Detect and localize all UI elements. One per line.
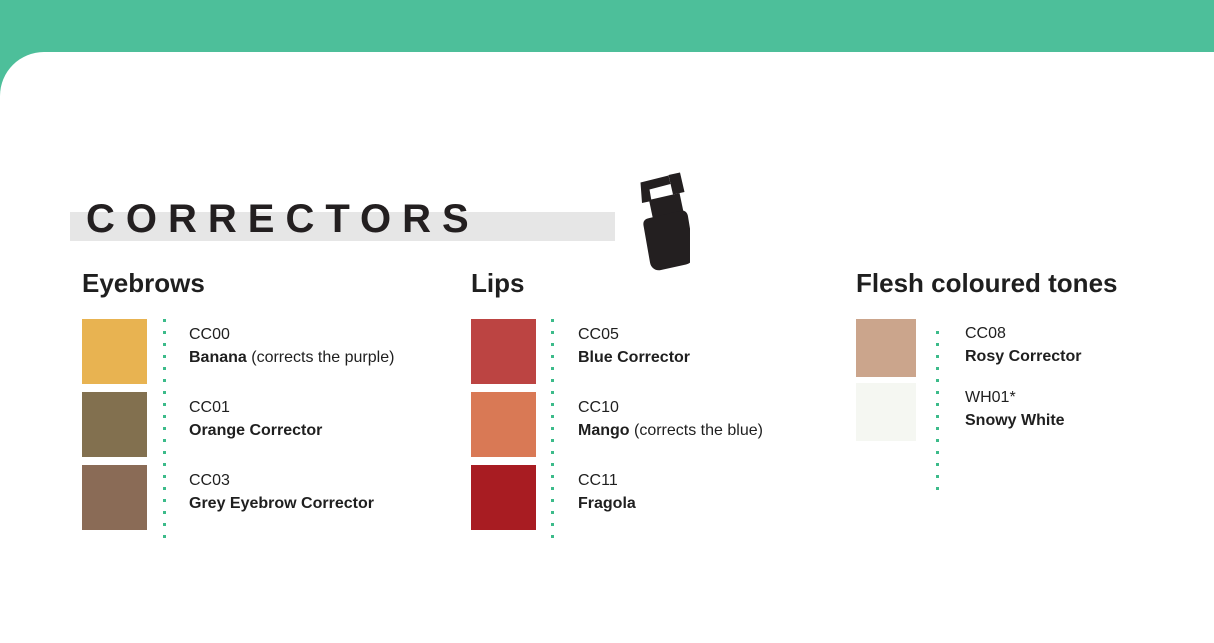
product-code: CC03 [189, 470, 509, 492]
product-code: CC10 [578, 397, 898, 419]
product-code: CC08 [965, 323, 1214, 345]
list-item[interactable]: WH01* Snowy White [856, 383, 1196, 447]
column-heading-flesh-coloured-tones: Flesh coloured tones [856, 268, 1196, 298]
column-flesh-coloured-tones: Flesh coloured tones CC08 Rosy Corrector… [856, 268, 1196, 447]
column-heading-eyebrows: Eyebrows [82, 268, 482, 298]
list-item[interactable]: CC03 Grey Eyebrow Corrector [82, 465, 482, 538]
product-name-row: Blue Corrector [578, 346, 898, 369]
color-swatch [82, 319, 147, 384]
product-code: CC01 [189, 397, 509, 419]
entry-text: CC10 Mango (corrects the blue) [578, 397, 898, 442]
column-heading-lips: Lips [471, 268, 851, 298]
product-note: (corrects the blue) [634, 422, 763, 439]
product-name-row: Orange Corrector [189, 419, 509, 442]
product-name: Orange Corrector [189, 422, 322, 439]
product-name-row: Rosy Corrector [965, 345, 1214, 368]
product-code: CC05 [578, 324, 898, 346]
product-name-row: Fragola [578, 492, 898, 515]
top-banner [0, 0, 1214, 52]
color-swatch [471, 392, 536, 457]
product-note: (corrects the purple) [251, 349, 394, 366]
product-name-row: Snowy White [965, 409, 1214, 432]
entry-text: CC08 Rosy Corrector [965, 323, 1214, 368]
entry-text: CC05 Blue Corrector [578, 324, 898, 369]
list-item[interactable]: CC00 Banana (corrects the purple) [82, 319, 482, 392]
column-eyebrows: Eyebrows CC00 Banana (corrects the purpl… [82, 268, 482, 538]
swatch-area-flesh: CC08 Rosy Corrector WH01* Snowy White [856, 319, 1196, 447]
entry-text: CC01 Orange Corrector [189, 397, 509, 442]
product-name: Fragola [578, 495, 636, 512]
entry-text: WH01* Snowy White [965, 387, 1214, 432]
pump-bottle-icon [628, 168, 690, 278]
list-item[interactable]: CC10 Mango (corrects the blue) [471, 392, 851, 465]
banner-rounded-corner [0, 52, 64, 96]
entry-text: CC11 Fragola [578, 470, 898, 515]
product-code: CC11 [578, 470, 898, 492]
product-name: Mango [578, 422, 630, 439]
product-name-row: Mango (corrects the blue) [578, 419, 898, 442]
product-code: WH01* [965, 387, 1214, 409]
color-swatch [856, 383, 916, 441]
entry-text: CC03 Grey Eyebrow Corrector [189, 470, 509, 515]
swatch-area-lips: CC05 Blue Corrector CC10 Mango (corrects… [471, 319, 851, 538]
page-title: CORRECTORS [86, 196, 480, 242]
product-name-row: Grey Eyebrow Corrector [189, 492, 509, 515]
product-name: Grey Eyebrow Corrector [189, 495, 374, 512]
color-swatch [471, 465, 536, 530]
product-name: Rosy Corrector [965, 348, 1081, 365]
product-name: Banana [189, 349, 247, 366]
list-item[interactable]: CC08 Rosy Corrector [856, 319, 1196, 383]
product-name: Blue Corrector [578, 349, 690, 366]
color-swatch [471, 319, 536, 384]
color-swatch [856, 319, 916, 377]
color-swatch [82, 465, 147, 530]
product-code: CC00 [189, 324, 509, 346]
product-name-row: Banana (corrects the purple) [189, 346, 509, 369]
list-item[interactable]: CC01 Orange Corrector [82, 392, 482, 465]
list-item[interactable]: CC05 Blue Corrector [471, 319, 851, 392]
swatch-area-eyebrows: CC00 Banana (corrects the purple) CC01 O… [82, 319, 482, 538]
page-title-block: CORRECTORS [70, 196, 670, 246]
entry-text: CC00 Banana (corrects the purple) [189, 324, 509, 369]
product-name: Snowy White [965, 412, 1065, 429]
column-lips: Lips CC05 Blue Corrector CC10 [471, 268, 851, 538]
list-item[interactable]: CC11 Fragola [471, 465, 851, 538]
color-swatch [82, 392, 147, 457]
